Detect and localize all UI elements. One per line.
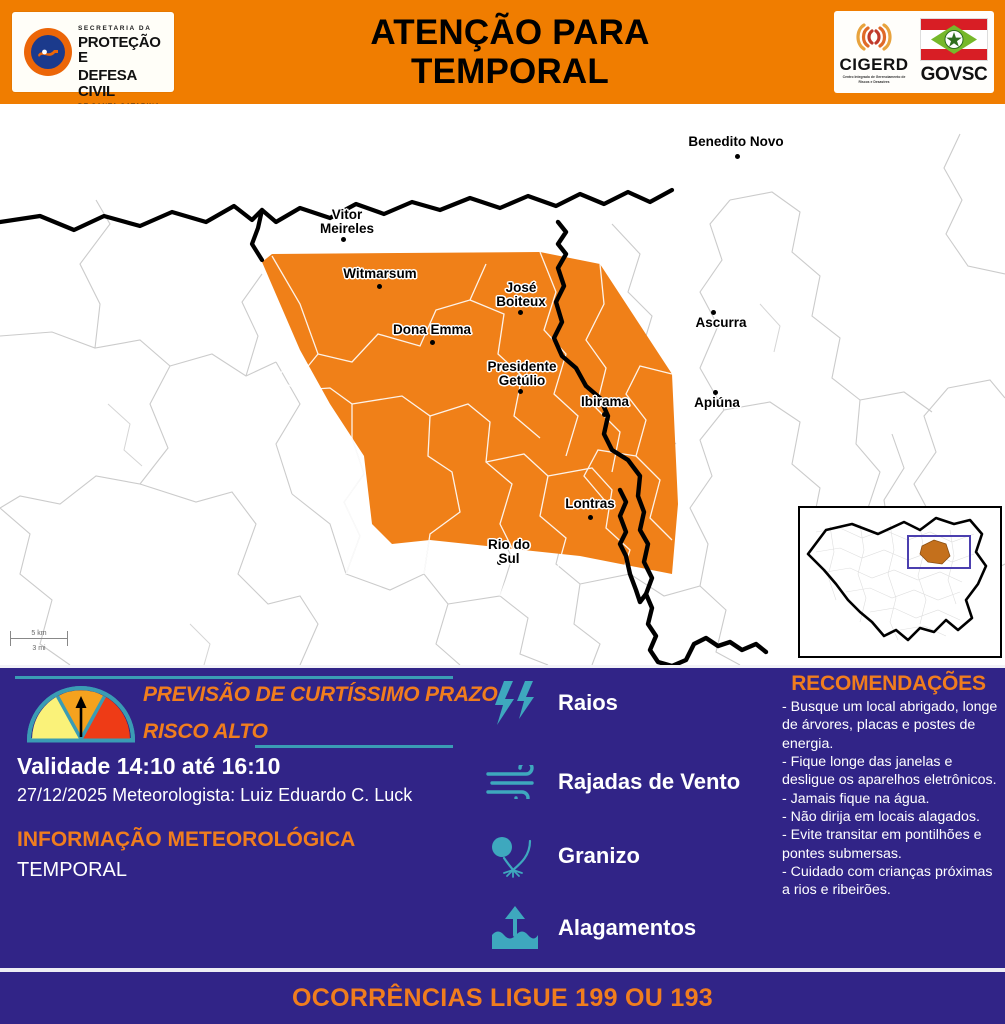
hazard-label-rajadas-de-vento: Rajadas de Vento (558, 769, 740, 795)
alert-map[interactable]: VitorMeireles Witmarsum JoséBoiteux Dona… (0, 104, 1005, 665)
recommendation-item: - Jamais fique na água. (782, 790, 1000, 808)
hazard-item-alagamentos: Alagamentos (484, 901, 696, 955)
city-dot-vitor-meireles (341, 237, 346, 242)
govsc-logo: GOVSC (917, 18, 991, 86)
alert-title-line1: ATENÇÃO PARA (370, 13, 649, 52)
alert-title-line2: TEMPORAL (411, 52, 609, 91)
govsc-sc: SC (962, 64, 988, 85)
recommendation-item: - Evite transitar em pontilhões e pontes… (782, 826, 1000, 863)
govsc-gov: GOV (921, 64, 962, 85)
cigerd-logo: CIGERD Centro Integrado de Gerenciamento… (837, 20, 911, 84)
footer-banner: OCORRÊNCIAS LIGUE 199 OU 193 (0, 972, 1005, 1024)
santa-catarina-flag-icon (920, 18, 988, 61)
defesa-civil-line2b: DEFESA CIVIL (78, 68, 170, 100)
hazard-label-granizo: Granizo (558, 843, 640, 869)
wind-gust-icon (484, 756, 546, 808)
recommendations-title: RECOMENDAÇÕES (772, 672, 1005, 696)
meteorological-info-body: TEMPORAL (17, 859, 127, 882)
city-dot-benedito-novo (735, 154, 740, 159)
alert-title: ATENÇÃO PARA TEMPORAL (200, 8, 820, 96)
risk-rule (255, 745, 453, 748)
cigerd-mark-icon (851, 20, 897, 54)
defesa-civil-logo-text: SECRETARIA DA PROTEÇÃO E DEFESA CIVIL DE… (78, 26, 170, 110)
recommendations-list: - Busque um local abrigado, longe de árv… (782, 698, 1000, 899)
defesa-civil-line2a: PROTEÇÃO E (78, 35, 170, 67)
validity-text: Validade 14:10 até 16:10 (17, 753, 280, 780)
recommendations-column: RECOMENDAÇÕES - Busque um local abrigado… (772, 665, 1005, 968)
cigerd-subtitle: Centro Integrado de Gerenciamento de Ris… (841, 75, 907, 84)
govsc-name: GOVSC (921, 64, 988, 86)
scale-mi-label: 3 mi (11, 645, 67, 652)
recommendation-item: - Busque um local abrigado, longe de árv… (782, 698, 1000, 753)
header-banner: SECRETARIA DA PROTEÇÃO E DEFESA CIVIL DE… (0, 0, 1005, 104)
brand-logos: CIGERD Centro Integrado de Gerenciamento… (834, 11, 994, 93)
defesa-civil-logo: SECRETARIA DA PROTEÇÃO E DEFESA CIVIL DE… (12, 12, 174, 92)
city-dot-jose-boiteux (518, 310, 523, 315)
forecast-top-rule (15, 676, 453, 679)
hazard-item-raios: Raios (484, 676, 618, 730)
weather-alert-poster: SECRETARIA DA PROTEÇÃO E DEFESA CIVIL DE… (0, 0, 1005, 1024)
scale-bar-graphic: 5 km 3 mi (10, 631, 68, 646)
recommendation-item: - Cuidado com crianças próximas a rios e… (782, 863, 1000, 900)
defesa-civil-line1: SECRETARIA DA (78, 26, 170, 33)
flood-icon (484, 902, 546, 954)
hazards-column: Raios Rajadas de Vento (470, 665, 770, 968)
forecast-type-label: PREVISÃO DE CURTÍSSIMO PRAZO (143, 683, 498, 707)
cigerd-name: CIGERD (839, 55, 908, 75)
inset-locator-map (798, 506, 1002, 658)
map-scale-bar: 5 km 3 mi (10, 631, 68, 646)
meteorological-info-heading: INFORMAÇÃO METEOROLÓGICA (17, 828, 355, 852)
risk-level-label: RISCO ALTO (143, 720, 268, 744)
city-dot-witmarsum (377, 284, 382, 289)
meteorologist-text: 27/12/2025 Meteorologista: Luiz Eduardo … (17, 785, 412, 806)
city-dot-presidente-getulio (518, 389, 523, 394)
hail-icon (484, 830, 546, 882)
recommendation-item: - Não dirija em locais alagados. (782, 808, 1000, 826)
forecast-column: PREVISÃO DE CURTÍSSIMO PRAZO RISCO ALTO … (0, 665, 470, 968)
city-dot-apiuna (713, 390, 718, 395)
city-dot-ascurra (711, 310, 716, 315)
hazard-item-granizo: Granizo (484, 829, 640, 883)
hazard-item-rajadas-de-vento: Rajadas de Vento (484, 755, 740, 809)
city-dot-dona-emma (430, 340, 435, 345)
hazard-label-raios: Raios (558, 690, 618, 716)
risk-gauge (26, 685, 136, 743)
defesa-civil-emblem-inner (31, 35, 65, 69)
city-dot-rio-do-sul (497, 560, 502, 565)
recommendation-item: - Fique longe das janelas e desligue os … (782, 753, 1000, 790)
lightning-icon (484, 677, 546, 729)
scale-km-label: 5 km (11, 630, 67, 637)
city-dot-lontras (588, 515, 593, 520)
emergency-phone-text: OCORRÊNCIAS LIGUE 199 OU 193 (292, 984, 713, 1013)
hazard-label-alagamentos: Alagamentos (558, 915, 696, 941)
city-dot-ibirama (602, 412, 607, 417)
defesa-civil-emblem-icon (24, 28, 72, 76)
info-panel: PREVISÃO DE CURTÍSSIMO PRAZO RISCO ALTO … (0, 665, 1005, 968)
